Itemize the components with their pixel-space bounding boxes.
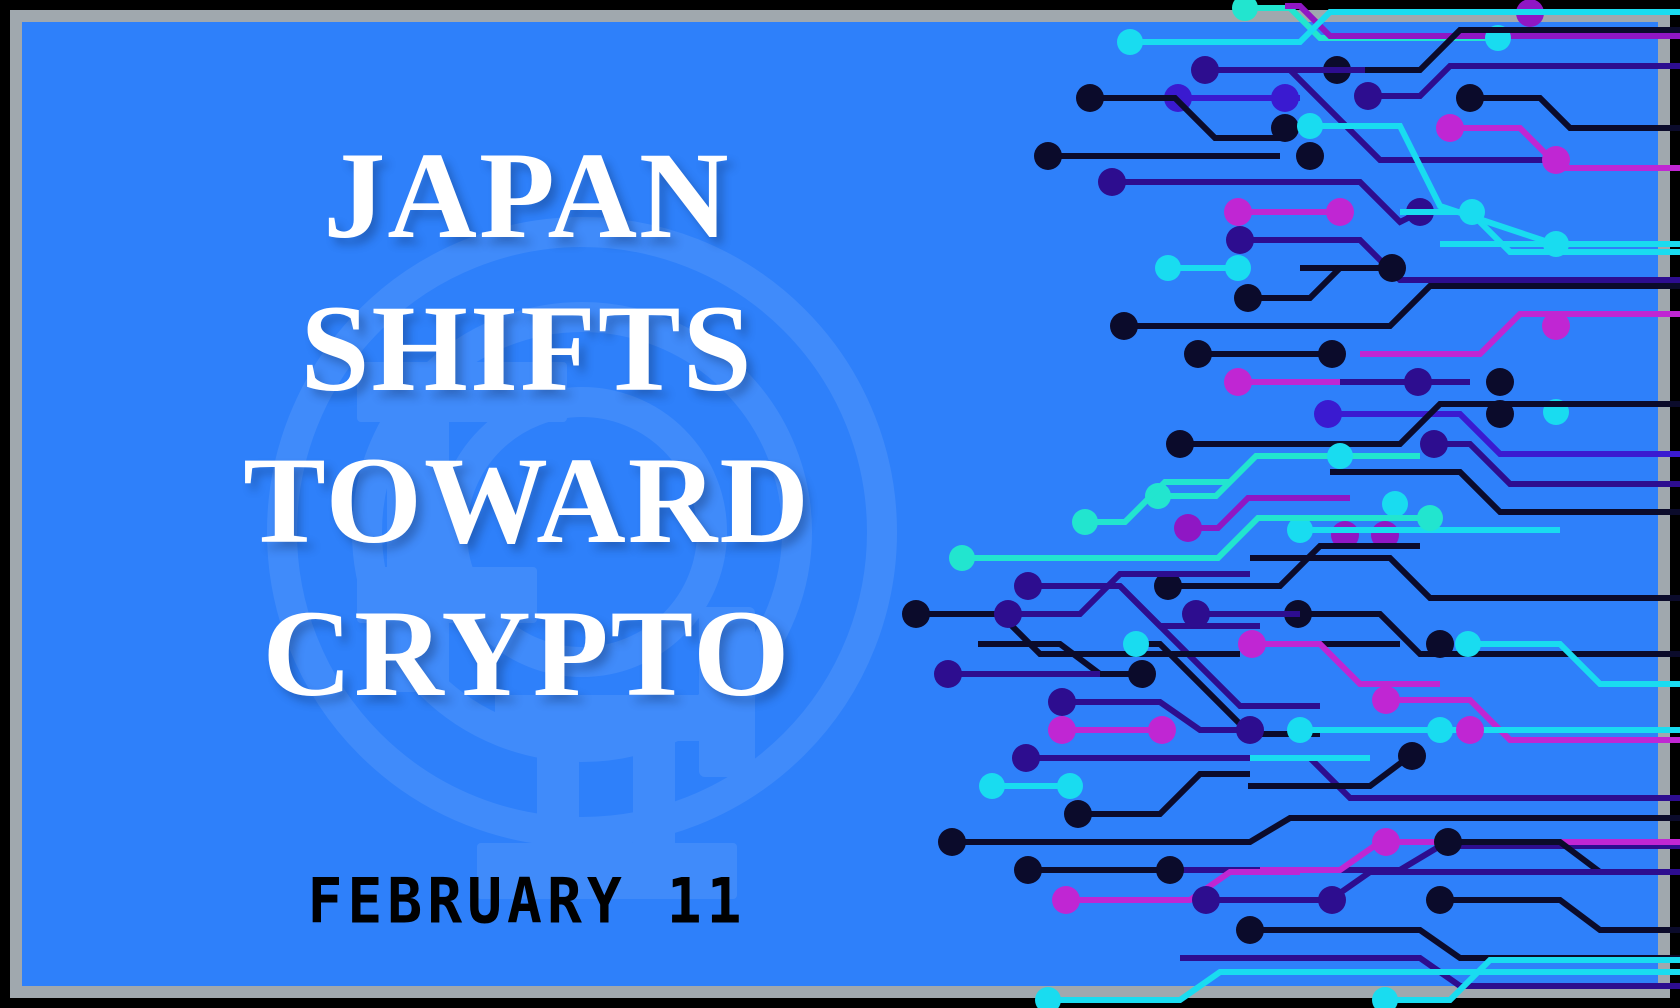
page-title: JAPAN SHIFTS TOWARD CRYPTO [112,120,942,730]
headline-line-4: CRYPTO [112,578,942,731]
headline-line-1: JAPAN [112,120,942,273]
date-bar: FEBRUARY 11 [112,872,942,930]
date-label: FEBRUARY 11 [307,870,746,933]
poster-card: JAPAN SHIFTS TOWARD CRYPTO FEBRUARY 11 [22,22,1658,986]
headline-line-3: TOWARD [112,425,942,578]
headline-line-2: SHIFTS [112,273,942,426]
poster-canvas: JAPAN SHIFTS TOWARD CRYPTO FEBRUARY 11 .… [0,0,1680,1008]
text-column: JAPAN SHIFTS TOWARD CRYPTO FEBRUARY 11 [112,82,942,962]
